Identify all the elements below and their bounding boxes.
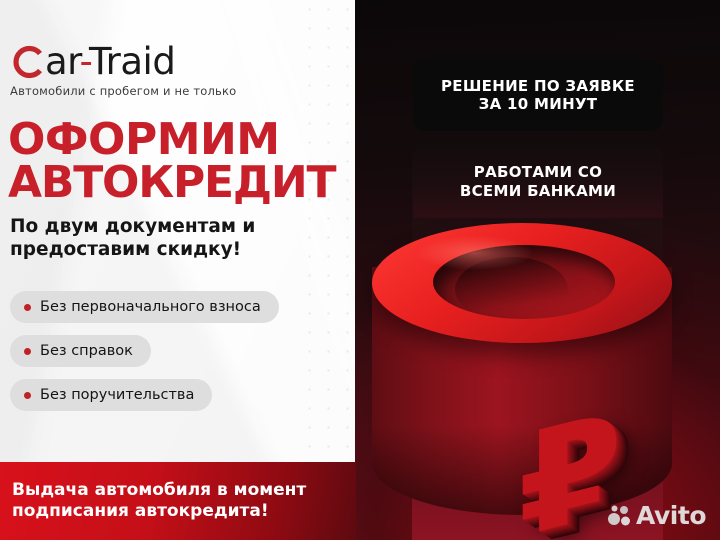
feature-chip-row: Без справок bbox=[10, 335, 279, 379]
bottom-banner-text: Выдача автомобиля в момент подписания ав… bbox=[0, 480, 306, 523]
subheading: По двум документам и предоставим скидку! bbox=[10, 216, 255, 262]
avito-watermark: Avito bbox=[608, 503, 706, 528]
brand-tagline: Автомобили с пробегом и не только bbox=[10, 84, 236, 98]
headline-line-1: ОФОРМИМ bbox=[8, 118, 335, 161]
badge-line-2: ВСЕМИ БАНКАМИ bbox=[460, 182, 616, 200]
brand-logo-wordmark: ar-Traid bbox=[45, 42, 175, 82]
logo-dash: - bbox=[80, 40, 89, 83]
subheading-line-1: По двум документам и bbox=[10, 216, 255, 239]
advertisement-banner: ₽ ar-Traid Автомобили с пробегом и не то… bbox=[0, 0, 720, 540]
feature-chip-list: Без первоначального взноса Без справок Б… bbox=[10, 291, 279, 423]
feature-chip-label: Без справок bbox=[40, 343, 133, 359]
feature-chip-row: Без первоначального взноса bbox=[10, 291, 279, 335]
bullet-dot-icon bbox=[24, 348, 31, 355]
badge-decision-time: РЕШЕНИЕ ПО ЗАЯВКЕ ЗА 10 МИНУТ bbox=[413, 59, 663, 131]
badge-text: РЕШЕНИЕ ПО ЗАЯВКЕ ЗА 10 МИНУТ bbox=[441, 77, 635, 114]
feature-chip-no-certificates: Без справок bbox=[10, 335, 151, 367]
badge-all-banks: РАБОТАМИ СО ВСЕМИ БАНКАМИ bbox=[413, 145, 663, 218]
feature-chip-row: Без поручительства bbox=[10, 379, 279, 423]
brand-logo[interactable]: ar-Traid bbox=[10, 42, 175, 82]
bullet-dot-icon bbox=[24, 304, 31, 311]
bottom-banner-line-1: Выдача автомобиля в момент bbox=[12, 480, 306, 501]
badge-line-2: ЗА 10 МИНУТ bbox=[441, 95, 635, 113]
logo-text-traid: Traid bbox=[89, 40, 175, 83]
zero-highlight bbox=[400, 231, 550, 275]
3d-zero-ruble-graphic: ₽ bbox=[330, 205, 720, 540]
badge-line-1: РАБОТАМИ СО bbox=[460, 163, 616, 181]
feature-chip-label: Без первоначального взноса bbox=[40, 299, 261, 315]
bottom-red-banner: Выдача автомобиля в момент подписания ав… bbox=[0, 462, 356, 540]
feature-chip-no-guarantor: Без поручительства bbox=[10, 379, 212, 411]
avito-wordmark: Avito bbox=[636, 503, 706, 528]
bottom-banner-line-2: подписания автокредита! bbox=[12, 501, 306, 522]
bullet-dot-icon bbox=[24, 392, 31, 399]
logo-text-ar: ar bbox=[45, 40, 80, 83]
red-arc-c-icon bbox=[10, 42, 44, 82]
avito-dots-icon bbox=[608, 505, 632, 527]
page-title: ОФОРМИМ АВТОКРЕДИТ bbox=[8, 118, 335, 204]
ruble-symbol-icon: ₽ bbox=[518, 393, 622, 540]
badge-line-1: РЕШЕНИЕ ПО ЗАЯВКЕ bbox=[441, 77, 635, 95]
feature-chip-no-downpayment: Без первоначального взноса bbox=[10, 291, 279, 323]
subheading-line-2: предоставим скидку! bbox=[10, 239, 255, 262]
feature-chip-label: Без поручительства bbox=[40, 387, 194, 403]
headline-line-2: АВТОКРЕДИТ bbox=[8, 161, 335, 204]
badge-text: РАБОТАМИ СО ВСЕМИ БАНКАМИ bbox=[460, 163, 616, 200]
